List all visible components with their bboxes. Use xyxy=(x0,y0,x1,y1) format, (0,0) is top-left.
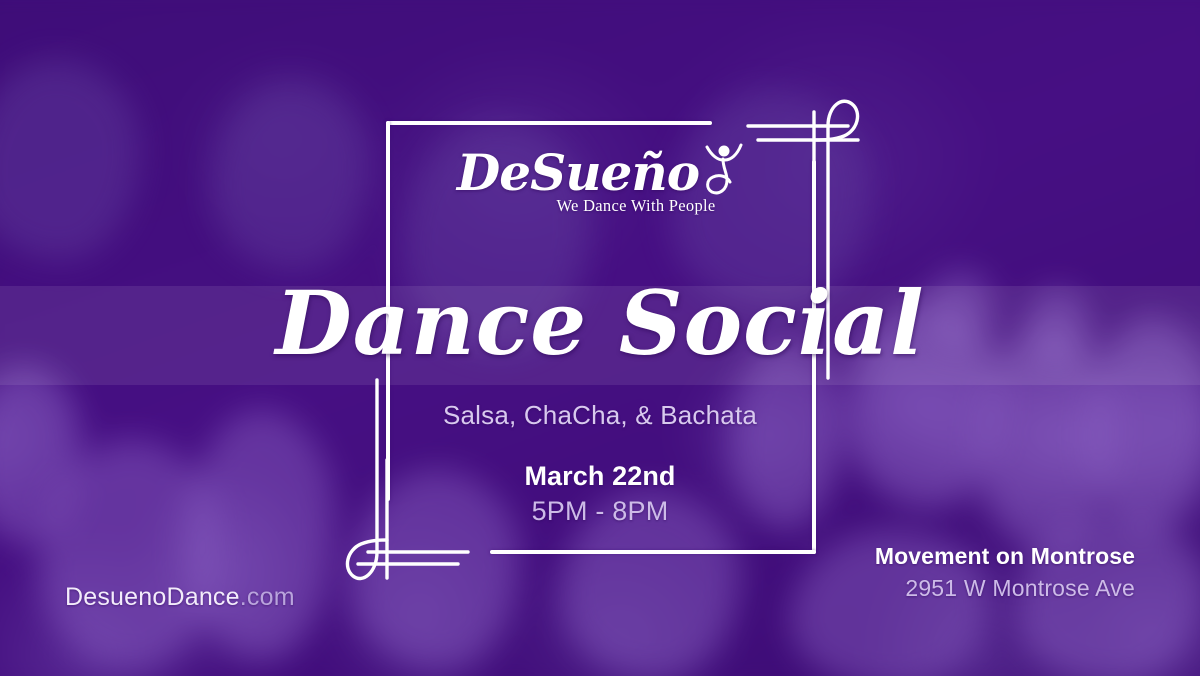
website-tld: .com xyxy=(240,583,295,611)
website-url[interactable]: DesuenoDance.com xyxy=(65,583,295,612)
frame-left-edge xyxy=(386,121,390,501)
corner-flourish-top-right-icon xyxy=(740,78,870,298)
website-name: DesuenoDance xyxy=(65,583,240,611)
frame-top-edge xyxy=(386,121,712,125)
corner-flourish-bottom-left-icon xyxy=(336,460,476,600)
background-crowd-silhouettes xyxy=(0,0,1200,676)
frame-bottom-edge xyxy=(490,550,816,554)
dance-social-flyer: DeSueño We Dance With People Dance Socia… xyxy=(0,0,1200,676)
